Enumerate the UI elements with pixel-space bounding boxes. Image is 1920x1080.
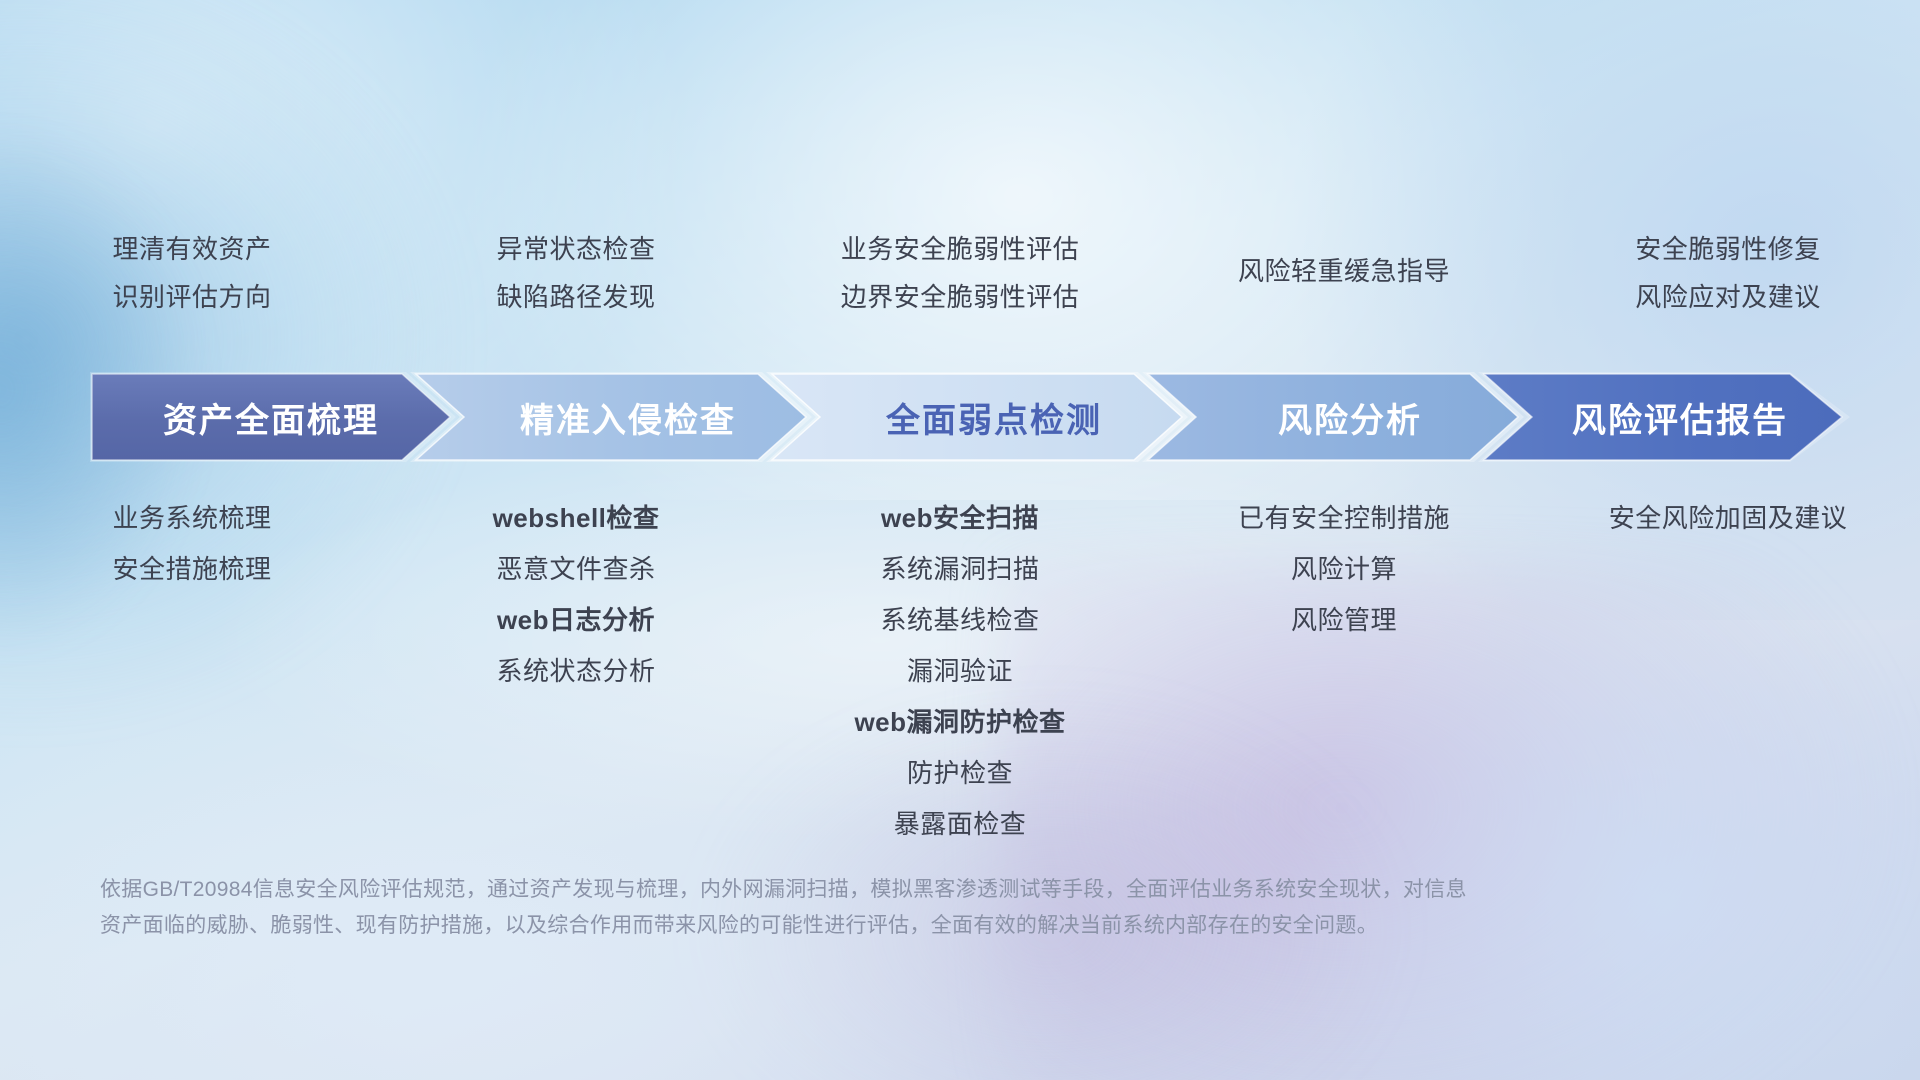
stage-input-label: 业务安全脆弱性评估 <box>841 236 1080 262</box>
stage-output-label: 系统基线检查 <box>880 607 1039 633</box>
stage-inputs-row: 理清有效资产 识别评估方向 异常状态检查 缺陷路径发现 业务安全脆弱性评估 边界… <box>0 228 1920 348</box>
stage-output-label: 业务系统梳理 <box>112 505 271 531</box>
stage-input-label: 风险应对及建议 <box>1635 284 1821 310</box>
stage-outputs-intrusion-check: webshell检查 恶意文件查杀 web日志分析 系统状态分析 <box>384 505 768 684</box>
stage-output-label: 系统状态分析 <box>496 658 655 684</box>
stage-outputs-asset-inventory: 业务系统梳理 安全措施梳理 <box>0 505 384 582</box>
stage-output-label: 已有安全控制措施 <box>1238 505 1450 531</box>
stage-output-label: 安全措施梳理 <box>112 556 271 582</box>
stage-inputs-intrusion-check: 异常状态检查 缺陷路径发现 <box>384 228 768 348</box>
stage-input-label: 异常状态检查 <box>496 236 655 262</box>
stage-input-label: 缺陷路径发现 <box>496 284 655 310</box>
stage-input-label: 边界安全脆弱性评估 <box>841 284 1080 310</box>
stage-output-label: 系统漏洞扫描 <box>880 556 1039 582</box>
stage-outputs-row: 业务系统梳理 安全措施梳理 webshell检查 恶意文件查杀 web日志分析 … <box>0 505 1920 837</box>
stage-inputs-risk-analysis: 风险轻重缓急指导 <box>1152 228 1536 348</box>
stage-output-label: web漏洞防护检查 <box>854 709 1065 735</box>
footer-line-2: 资产面临的威胁、脆弱性、现有防护措施，以及综合作用而带来风险的可能性进行评估，全… <box>100 908 1630 944</box>
stage-outputs-risk-analysis: 已有安全控制措施 风险计算 风险管理 <box>1152 505 1536 633</box>
chevron-shapes <box>90 368 1850 466</box>
stage-output-label: 防护检查 <box>907 760 1013 786</box>
footer-description: 依据GB/T20984信息安全风险评估规范，通过资产发现与梳理，内外网漏洞扫描，… <box>100 872 1630 944</box>
stage-output-label: web安全扫描 <box>881 505 1039 531</box>
process-chevron-banner: 资产全面梳理 精准入侵检查 全面弱点检测 风险分析 风险评估报告 <box>90 368 1850 466</box>
stage-outputs-weakness-detection: web安全扫描 系统漏洞扫描 系统基线检查 漏洞验证 web漏洞防护检查 防护检… <box>768 505 1152 837</box>
stage-input-label: 风险轻重缓急指导 <box>1238 258 1450 284</box>
stage-output-label: web日志分析 <box>497 607 655 633</box>
stage-output-label: 恶意文件查杀 <box>496 556 655 582</box>
stage-output-label: 风险计算 <box>1291 556 1397 582</box>
stage-output-label: webshell检查 <box>493 505 660 531</box>
stage-inputs-risk-report: 安全脆弱性修复 风险应对及建议 <box>1536 228 1920 348</box>
stage-input-label: 安全脆弱性修复 <box>1635 236 1821 262</box>
stage-output-label: 漏洞验证 <box>907 658 1013 684</box>
stage-output-label: 风险管理 <box>1291 607 1397 633</box>
footer-line-1: 依据GB/T20984信息安全风险评估规范，通过资产发现与梳理，内外网漏洞扫描，… <box>100 872 1630 908</box>
stage-inputs-asset-inventory: 理清有效资产 识别评估方向 <box>0 228 384 348</box>
stage-output-label: 暴露面检查 <box>894 811 1027 837</box>
stage-inputs-weakness-detection: 业务安全脆弱性评估 边界安全脆弱性评估 <box>768 228 1152 348</box>
stage-outputs-risk-report: 安全风险加固及建议 <box>1536 505 1920 531</box>
stage-input-label: 识别评估方向 <box>112 284 271 310</box>
stage-output-label: 安全风险加固及建议 <box>1609 505 1848 531</box>
stage-input-label: 理清有效资产 <box>112 236 271 262</box>
